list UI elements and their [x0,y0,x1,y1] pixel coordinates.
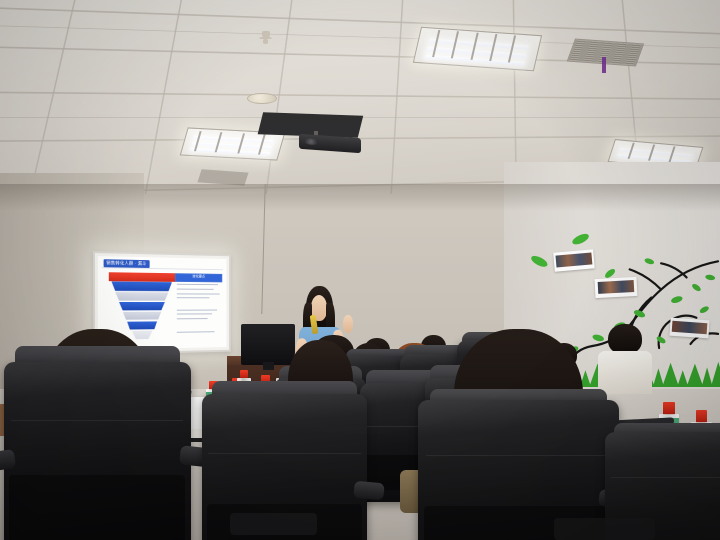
projector-lens [304,137,318,144]
panel-line [177,314,212,315]
panel-line [177,284,218,285]
panel-line [177,331,214,332]
funnel-band-1 [111,282,172,292]
panel-line [177,318,207,319]
funnel-band-2 [115,292,168,301]
chair-base [230,513,316,535]
panel-line [177,289,213,290]
photo-frame [553,249,595,272]
projector-mount-plate [258,112,363,137]
funnel-band-5 [127,321,157,330]
attendee-body [598,351,653,394]
monitor-stand [263,362,275,371]
panel-line [177,293,219,294]
panel-line [177,309,217,310]
funnel-band-4 [123,311,162,320]
slide-divider [102,268,223,271]
wall-ceiling-shadow [0,184,720,211]
panel-header-text: 转化要点 [175,274,221,281]
projector [247,114,376,155]
chair-armrest [353,481,384,500]
funnel-band-3 [119,302,165,311]
presenter-hand-raised [343,315,353,333]
photo-frame [670,317,710,338]
photo-frame [595,277,638,299]
funnel-band-0 [108,271,178,282]
panel-header-box: 转化要点 [174,273,222,282]
panel-line [177,298,210,299]
chair-foreground-left[interactable] [4,362,191,540]
chair-base [554,518,655,540]
smoke-detector [247,93,276,104]
ribbon-streamer [602,57,606,73]
attendee-head [608,324,641,354]
funnel-band-6 [132,331,153,340]
training-room-photo: 销售转化人群 · 漏斗 转化要点 [0,0,720,540]
sprinkler-head [259,31,272,44]
